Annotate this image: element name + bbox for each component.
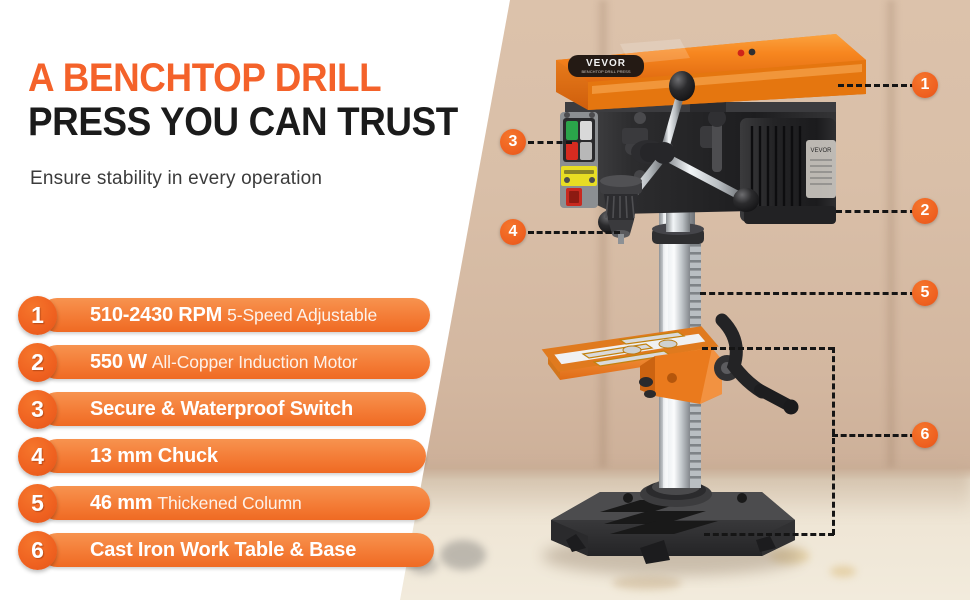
subtitle: Ensure stability in every operation	[30, 168, 322, 190]
feature-3-strong: Secure & Waterproof Switch	[90, 398, 353, 421]
feature-1-light: 5-Speed Adjustable	[227, 305, 377, 326]
callout-marker-2[interactable]: 2	[912, 198, 938, 224]
callout-marker-2-label: 2	[921, 202, 930, 220]
feature-number-6: 6	[18, 531, 57, 570]
waterproof-switch-panel	[560, 112, 598, 208]
callout-marker-4[interactable]: 4	[500, 219, 526, 245]
feature-5-strong: 46 mm	[90, 492, 152, 515]
feature-4-strong: 13 mm Chuck	[90, 445, 218, 468]
feature-1-strong: 510-2430 RPM	[90, 304, 222, 327]
feature-number-2: 2	[18, 343, 57, 382]
leader-line-6-stem	[832, 434, 916, 437]
callout-marker-4-label: 4	[509, 223, 518, 241]
svg-text:BENCHTOP DRILL PRESS: BENCHTOP DRILL PRESS	[581, 69, 630, 74]
svg-text:VEVOR: VEVOR	[810, 148, 832, 154]
feature-6-strong: Cast Iron Work Table & Base	[90, 539, 356, 562]
leader-line-4	[528, 231, 620, 234]
feature-pill-3: Secure & Waterproof Switch	[40, 392, 426, 426]
leader-line-2	[836, 210, 916, 213]
feature-number-4: 4	[18, 437, 57, 476]
headline-block: A BENCHTOP DRILL PRESS YOU CAN TRUST	[28, 56, 498, 144]
leader-line-6-vertical	[832, 347, 835, 535]
leader-line-6-bottom	[704, 533, 834, 536]
feature-pill-1: 510-2430 RPM 5-Speed Adjustable	[40, 298, 430, 332]
svg-text:VEVOR: VEVOR	[586, 58, 626, 69]
callout-marker-1-label: 1	[921, 76, 930, 94]
feature-pill-6: Cast Iron Work Table & Base	[40, 533, 434, 567]
callout-marker-1[interactable]: 1	[912, 72, 938, 98]
leader-line-1	[838, 84, 916, 87]
cast-iron-base	[551, 479, 795, 564]
leader-line-6-top	[702, 347, 834, 350]
feature-2-strong: 550 W	[90, 351, 147, 374]
callout-marker-6-label: 6	[921, 426, 930, 444]
feature-pill-5: 46 mm Thickened Column	[40, 486, 430, 520]
feature-pill-2: 550 W All-Copper Induction Motor	[40, 345, 430, 379]
callout-marker-5-label: 5	[921, 284, 930, 302]
feature-number-5: 5	[18, 484, 57, 523]
leader-line-3	[528, 141, 572, 144]
headline-line-2: PRESS YOU CAN TRUST	[28, 100, 460, 144]
feature-5-light: Thickened Column	[157, 493, 301, 514]
feature-number-3: 3	[18, 390, 57, 429]
callout-marker-3-label: 3	[509, 133, 518, 151]
callout-marker-5[interactable]: 5	[912, 280, 938, 306]
feature-2-light: All-Copper Induction Motor	[152, 352, 358, 373]
callout-marker-3[interactable]: 3	[500, 129, 526, 155]
infographic-canvas: VEVOR VEVOR BENCHTOP DRILL PRESS	[0, 0, 970, 600]
headline-line-1: A BENCHTOP DRILL	[28, 56, 460, 100]
feature-pill-4: 13 mm Chuck	[40, 439, 426, 473]
callout-marker-6[interactable]: 6	[912, 422, 938, 448]
feature-number-1: 1	[18, 296, 57, 335]
leader-line-5	[700, 292, 916, 295]
orange-belt-cover: VEVOR BENCHTOP DRILL PRESS	[556, 34, 866, 110]
